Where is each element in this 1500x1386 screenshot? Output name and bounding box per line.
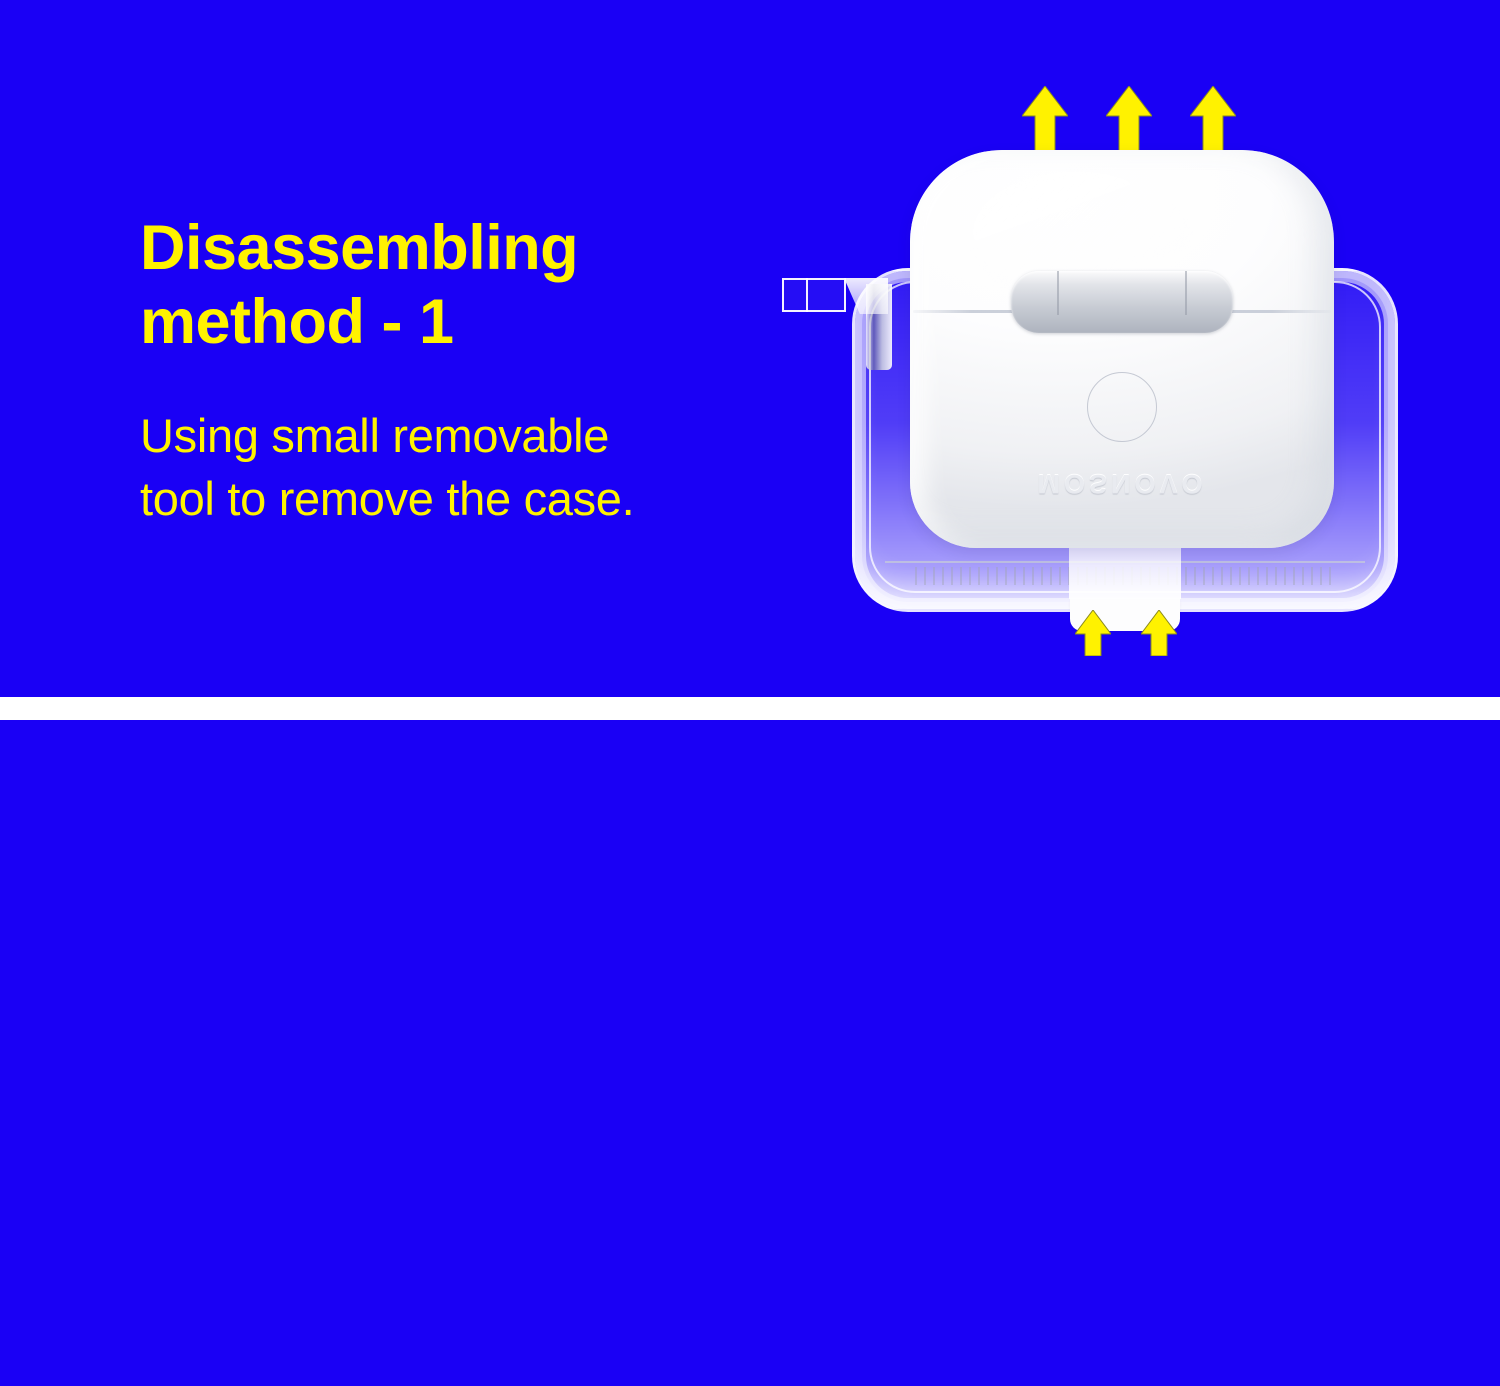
- removal-tool-handle: [782, 278, 846, 312]
- up-arrow-icon: [1022, 86, 1068, 156]
- method-1-headline: Disassembling method - 1: [140, 212, 760, 359]
- hinge-notch-left: [1057, 271, 1059, 315]
- arrows-up-bottom-method-1: [1075, 610, 1177, 656]
- method-1-subline: Using small removable tool to remove the…: [140, 405, 760, 530]
- panel-divider: [0, 697, 1500, 720]
- panel-method-1: Disassembling method - 1 Using small rem…: [0, 0, 1500, 697]
- brand-emboss: MOSNOVO: [1037, 468, 1206, 499]
- panel-method-2: Disassembling method - 2 Using charging …: [0, 720, 1500, 1386]
- airpods-case-assembly-method-1: MOSNOVO: [840, 150, 1400, 610]
- arrows-up-top-method-1: [1022, 86, 1236, 156]
- hinge-notch-right: [1185, 271, 1187, 315]
- hinge-icon: [1011, 271, 1233, 333]
- method-1-text-block: Disassembling method - 1 Using small rem…: [140, 212, 760, 530]
- setup-button-icon: [1087, 372, 1157, 442]
- instruction-graphic: Disassembling method - 1 Using small rem…: [0, 0, 1500, 1386]
- up-arrow-icon: [1075, 610, 1111, 656]
- up-arrow-icon: [1190, 86, 1236, 156]
- up-arrow-icon: [1106, 86, 1152, 156]
- airpods-charging-case: MOSNOVO: [910, 150, 1334, 548]
- up-arrow-icon: [1141, 610, 1177, 656]
- removal-tool-neck: [844, 278, 888, 314]
